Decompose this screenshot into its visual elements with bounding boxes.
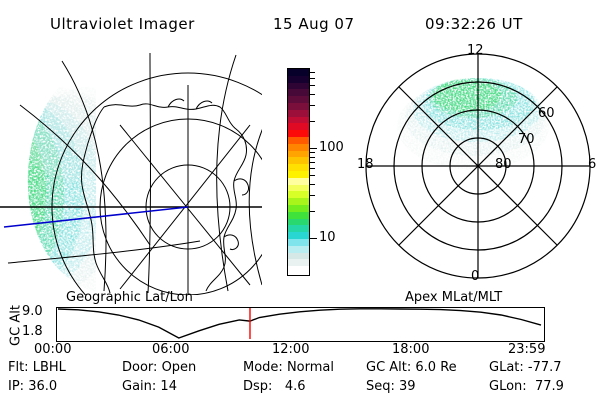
mlt-ring-label-60: 60 [538,107,555,120]
colorbar-minor-tick [309,152,315,153]
altitude-curve-svg [57,308,542,339]
colorbar-minor-tick [309,121,315,122]
altitude-xtick-0: 00:00 [34,343,71,356]
mlt-label-0: 0 [471,270,479,283]
mlt-label-18: 18 [357,158,374,171]
aurora-emission-geographic [0,87,148,295]
status-mode: Mode: Normal [243,360,334,375]
status-glat: GLat: -77.7 [489,360,562,375]
mlt-dial-panel[interactable]: 12 6 0 18 60 70 80 [355,48,600,293]
aurora-emission-mlt [397,78,549,170]
status-ip: IP: 36.0 [8,379,57,394]
mlt-ring-label-70: 70 [518,133,535,146]
colorbar-minor-tick [309,175,315,176]
header-bar: Ultraviolet Imager 15 Aug 07 09:32:26 UT [0,8,600,34]
mlt-label-6: 6 [588,158,596,171]
altitude-ytick-max: 9.0 [22,305,43,318]
colorbar: photon cm-2s-1 10010 [265,62,353,287]
altitude-curve [58,309,541,338]
colorbar-major-tick [309,238,317,239]
altitude-ytick-min: 1.8 [22,325,43,338]
observation-time: 09:32:26 UT [425,17,523,32]
status-door: Door: Open [122,360,196,375]
status-bar: Flt: LBHL Door: Open Mode: Normal GC Alt… [0,360,600,400]
colorbar-minor-tick [309,168,315,169]
status-row-1: Flt: LBHL Door: Open Mode: Normal GC Alt… [0,360,600,378]
altitude-timeline-panel[interactable]: Geographic Lat/Lon Apex MLat/MLT GC Alt … [0,295,600,357]
mlt-ring-label-80: 80 [495,158,512,171]
status-seq: Seq: 39 [366,379,416,394]
status-glon: GLon: 77.9 [489,379,564,394]
colorbar-segment [288,266,309,273]
colorbar-minor-tick [309,78,315,79]
altitude-xtick-1: 06:00 [152,343,189,356]
geographic-svg [0,45,262,295]
colorbar-gradient [287,68,310,276]
observation-date: 15 Aug 07 [273,17,355,32]
colorbar-minor-tick [309,85,315,86]
colorbar-minor-tick [309,211,315,212]
colorbar-minor-tick [309,105,315,106]
altitude-xtick-3: 18:00 [392,343,429,356]
colorbar-tick-label: 100 [319,140,344,155]
colorbar-minor-tick [309,162,315,163]
altitude-plot-box [56,307,545,342]
mlt-spokes [366,54,590,278]
status-flt: Flt: LBHL [8,360,66,375]
status-dsp: Dsp: 4.6 [243,379,306,394]
colorbar-minor-tick [309,94,315,95]
instrument-title: Ultraviolet Imager [50,17,195,32]
colorbar-minor-tick [309,195,315,196]
status-gain: Gain: 14 [122,379,177,394]
colorbar-minor-tick [309,157,315,158]
mlt-dial-svg [355,48,600,293]
mlt-label-12: 12 [467,44,484,57]
geographic-polar-image[interactable] [0,45,262,295]
colorbar-major-tick [309,148,317,149]
altitude-xtick-2: 12:00 [272,343,309,356]
geographic-panel-title: Geographic Lat/Lon [66,291,193,304]
altitude-xtick-4: 23:59 [508,343,545,356]
status-gc-alt: GC Alt: 6.0 Re [366,360,457,375]
status-row-2: IP: 36.0 Gain: 14 Dsp: 4.6 Seq: 39 GLon:… [0,379,600,397]
colorbar-minor-tick [309,184,315,185]
mlt-panel-title: Apex MLat/MLT [405,291,502,304]
colorbar-tick-label: 10 [319,230,336,245]
altitude-axis-label: GC Alt [10,298,23,354]
colorbar-minor-tick [309,72,315,73]
